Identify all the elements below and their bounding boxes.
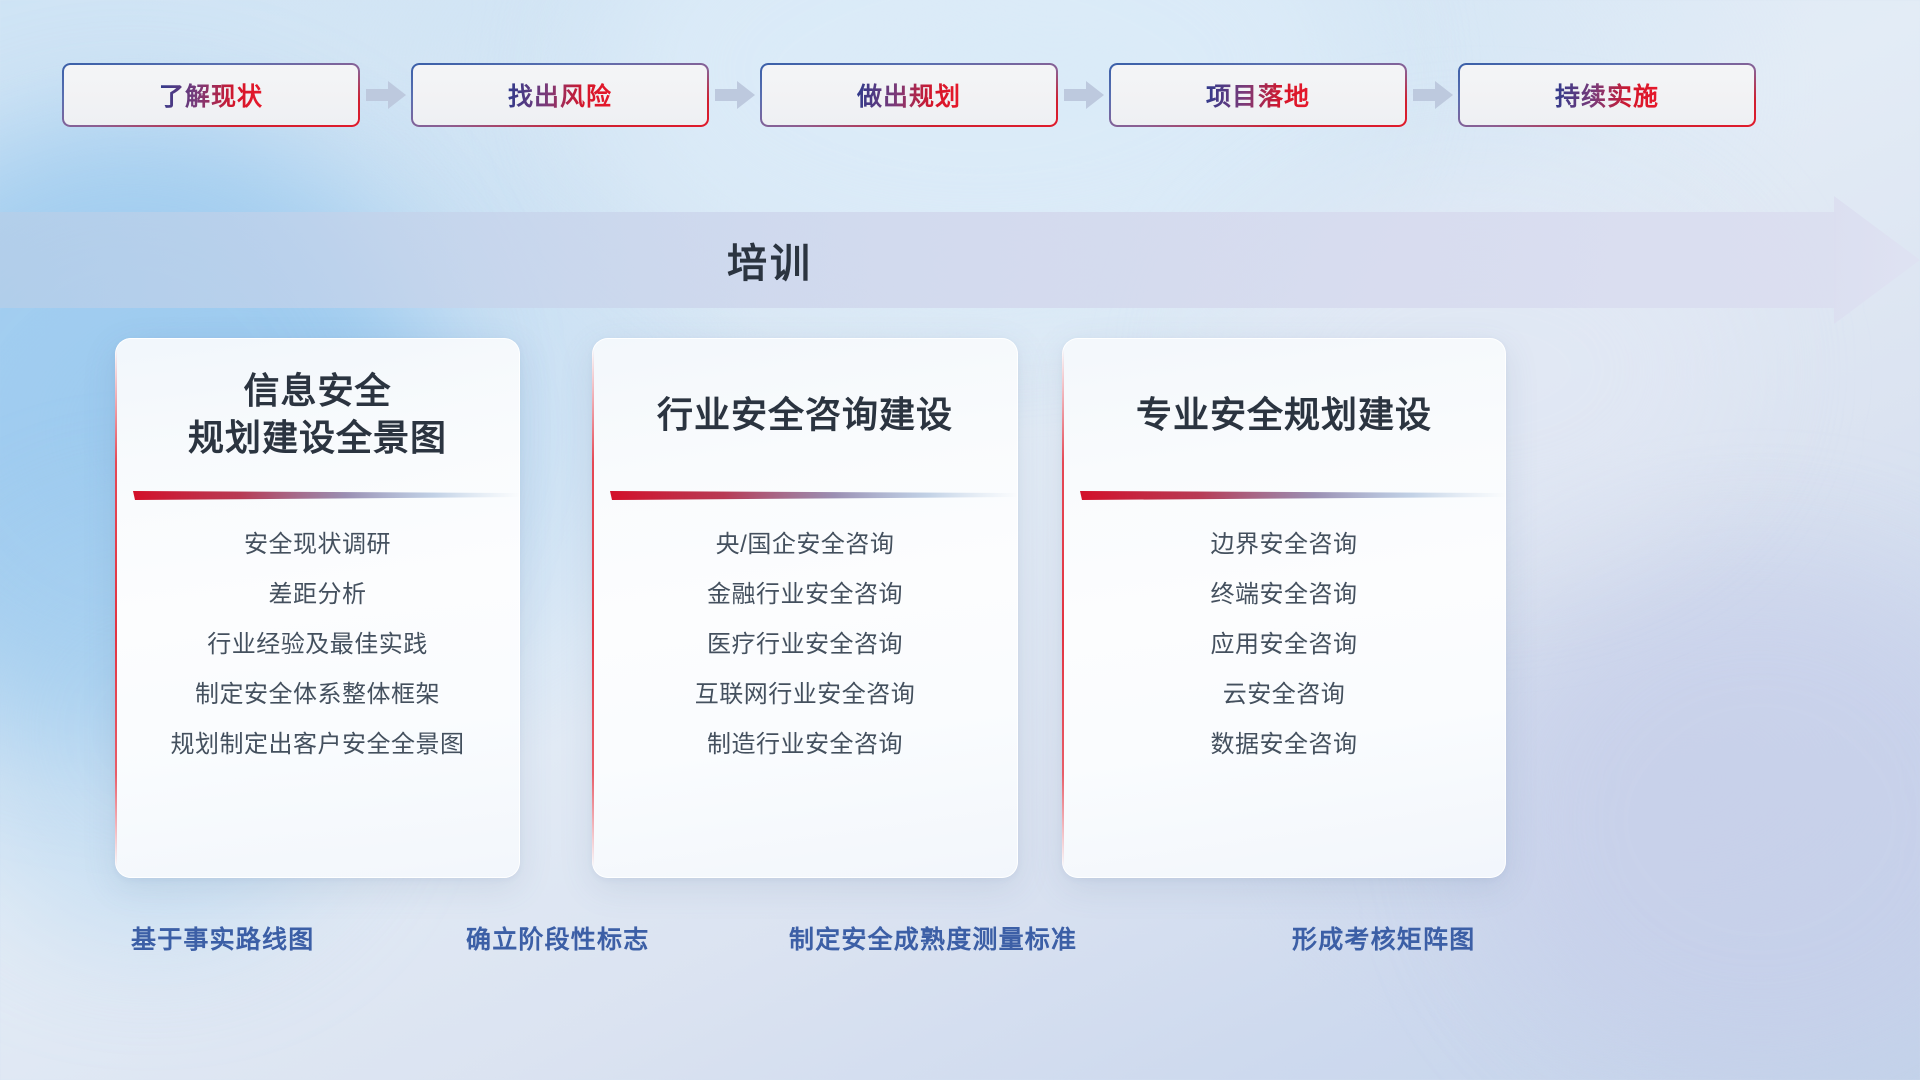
list-item: 医疗行业安全咨询 (707, 620, 903, 670)
list-item: 应用安全咨询 (1211, 620, 1358, 670)
card-1-title-line-1: 信息安全 (243, 368, 391, 415)
card-2-list: 央/国企安全咨询 金融行业安全咨询 医疗行业安全咨询 互联网行业安全咨询 制造行… (592, 520, 1018, 770)
card-1-list: 安全现状调研 差距分析 行业经验及最佳实践 制定安全体系整体框架 规划制定出客户… (115, 520, 520, 770)
list-item: 数据安全咨询 (1211, 720, 1358, 770)
step-label-5: 持续实施 (1555, 77, 1659, 113)
step-arrow-3 (1058, 80, 1109, 110)
list-item: 金融行业安全咨询 (707, 570, 903, 620)
step-arrow-4 (1407, 80, 1458, 110)
list-item: 制定安全体系整体框架 (195, 670, 440, 720)
card-3-divider (1062, 488, 1506, 504)
list-item: 行业经验及最佳实践 (207, 620, 428, 670)
card-2-title-line-1: 行业安全咨询建设 (657, 392, 953, 439)
list-item: 规划制定出客户安全全景图 (171, 720, 465, 770)
banner-arrow-tip-icon (1834, 196, 1920, 324)
card-3-title-line-1: 专业安全规划建设 (1136, 392, 1432, 439)
step-arrow-2 (709, 80, 760, 110)
training-banner: 培训 (0, 212, 1920, 308)
card-1[interactable]: 信息安全 规划建设全景图 安全现状调研 差距分析 行业经 (115, 338, 520, 878)
service-cards: 信息安全 规划建设全景图 安全现状调研 差距分析 行业经 (0, 338, 1920, 878)
process-steps: 了解现状 找出风险 做出规划 项目落地 持续实施 (62, 62, 1862, 128)
list-item: 制造行业安全咨询 (707, 720, 903, 770)
caption-3: 制定安全成熟度测量标准 (789, 920, 1077, 956)
list-item: 边界安全咨询 (1211, 520, 1358, 570)
step-arrow-1 (360, 80, 411, 110)
bottom-captions: 基于事实路线图 确立阶段性标志 制定安全成熟度测量标准 形成考核矩阵图 (0, 920, 1920, 964)
card-3-list: 边界安全咨询 终端安全咨询 应用安全咨询 云安全咨询 数据安全咨询 (1062, 520, 1506, 770)
step-label-1: 了解现状 (159, 77, 263, 113)
list-item: 云安全咨询 (1223, 670, 1346, 720)
step-box-1[interactable]: 了解现状 (62, 63, 360, 127)
list-item: 差距分析 (269, 570, 367, 620)
list-item: 互联网行业安全咨询 (695, 670, 916, 720)
list-item: 终端安全咨询 (1211, 570, 1358, 620)
step-label-2: 找出风险 (508, 77, 612, 113)
step-box-5[interactable]: 持续实施 (1458, 63, 1756, 127)
step-label-4: 项目落地 (1206, 77, 1310, 113)
card-2-title: 行业安全咨询建设 (592, 338, 1018, 492)
card-2[interactable]: 行业安全咨询建设 央/国企安全咨询 金融行业安全咨询 医疗行业安全咨 (592, 338, 1018, 878)
card-3-title: 专业安全规划建设 (1062, 338, 1506, 492)
step-box-4[interactable]: 项目落地 (1109, 63, 1407, 127)
caption-1: 基于事实路线图 (131, 920, 314, 956)
step-box-3[interactable]: 做出规划 (760, 63, 1058, 127)
list-item: 央/国企安全咨询 (716, 520, 895, 570)
card-1-title-line-2: 规划建设全景图 (188, 415, 447, 462)
card-1-title: 信息安全 规划建设全景图 (115, 338, 520, 492)
caption-4: 形成考核矩阵图 (1292, 920, 1475, 956)
caption-2: 确立阶段性标志 (466, 920, 649, 956)
card-1-divider (115, 488, 520, 504)
step-box-2[interactable]: 找出风险 (411, 63, 709, 127)
banner-title: 培训 (0, 212, 1540, 308)
card-2-divider (592, 488, 1018, 504)
list-item: 安全现状调研 (244, 520, 391, 570)
card-3[interactable]: 专业安全规划建设 边界安全咨询 终端安全咨询 应用安全咨询 (1062, 338, 1506, 878)
step-label-3: 做出规划 (857, 77, 961, 113)
